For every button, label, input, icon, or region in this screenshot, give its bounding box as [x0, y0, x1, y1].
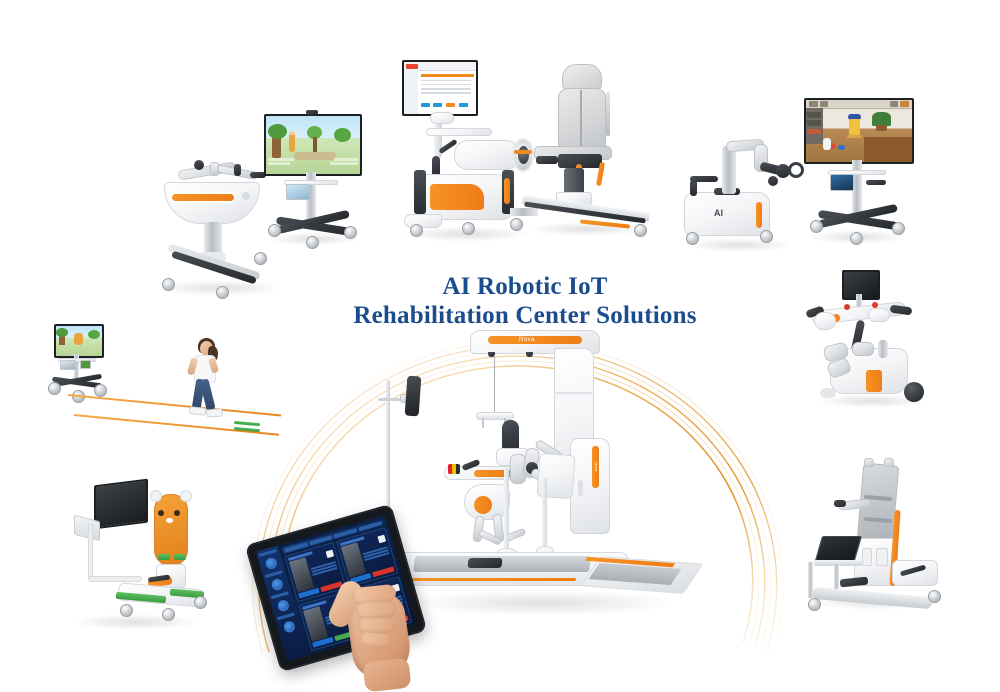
poster-title: AI Robotic IoT Rehabilitation Center Sol… [330, 272, 720, 330]
sidebar-icon-1[interactable] [264, 557, 278, 571]
product-mobile-robot-arm[interactable]: AI [676, 132, 806, 252]
product-central-gait-robot[interactable]: Nova Nova [378, 328, 718, 628]
walkway-screen [54, 324, 104, 358]
product-robotic-gait-console[interactable] [396, 58, 536, 243]
console-screen-dashboard [402, 60, 478, 116]
walking-patient [172, 336, 236, 424]
control-tablet-assembly[interactable] [252, 516, 422, 683]
poster-canvas: AI Robotic IoT Rehabilitation Center Sol… [0, 0, 1000, 683]
status-indicator [448, 464, 460, 474]
robot-head [454, 140, 520, 170]
sidebar-logo [259, 549, 277, 557]
accent-stripe [172, 194, 234, 201]
title-line-2: Rehabilitation Center Solutions [330, 301, 720, 330]
suspension-cable [494, 355, 495, 417]
operator-hand [330, 564, 428, 683]
pole-display [405, 376, 422, 417]
sidebar-label-3 [277, 612, 295, 620]
product-tilt-standing-bed[interactable] [804, 452, 949, 612]
sidebar-icon-2[interactable] [270, 578, 284, 592]
accent-panel [866, 370, 882, 392]
sidebar-icon-4[interactable] [282, 620, 296, 634]
product-pediatric-standing-frame[interactable] [62, 472, 212, 632]
monitor-screen [94, 479, 148, 530]
control-cabinet [570, 438, 610, 534]
product-gait-analysis-walkway[interactable] [44, 318, 276, 440]
cabinet-logo: AI [714, 208, 736, 217]
vr-screen-forest [264, 114, 362, 176]
control-tablet-small[interactable] [286, 184, 310, 200]
camera-icon [306, 110, 318, 115]
accent-panel [430, 184, 484, 210]
product-limb-cycle-ergometer[interactable] [806, 266, 936, 411]
hand-wrist [363, 658, 412, 692]
hand-little-finger [359, 632, 390, 649]
control-tablet-small[interactable] [830, 174, 854, 191]
product-rehab-chair-rail[interactable] [522, 58, 652, 238]
bear-ear-right [180, 490, 192, 502]
bear-ear-left [150, 490, 162, 502]
product-vr-display-cart-room[interactable] [796, 96, 918, 246]
vr-screen-room [804, 98, 914, 164]
cabinet-brand-mark: Nova [592, 448, 599, 486]
product-vr-display-cart-forest[interactable] [258, 112, 368, 247]
hand-middle-finger [356, 601, 397, 619]
wheel [904, 382, 924, 402]
cart-tablet[interactable] [60, 360, 76, 370]
gantry-brand-mark: Nova [510, 336, 544, 344]
hand-ring-finger [358, 618, 394, 634]
chair-backrest [558, 88, 606, 150]
sidebar-label-2 [271, 591, 289, 599]
sidebar-icon-3[interactable] [276, 599, 290, 613]
tray [426, 128, 492, 136]
title-line-1: AI Robotic IoT [330, 272, 720, 301]
sidebar-label-1 [265, 570, 283, 578]
